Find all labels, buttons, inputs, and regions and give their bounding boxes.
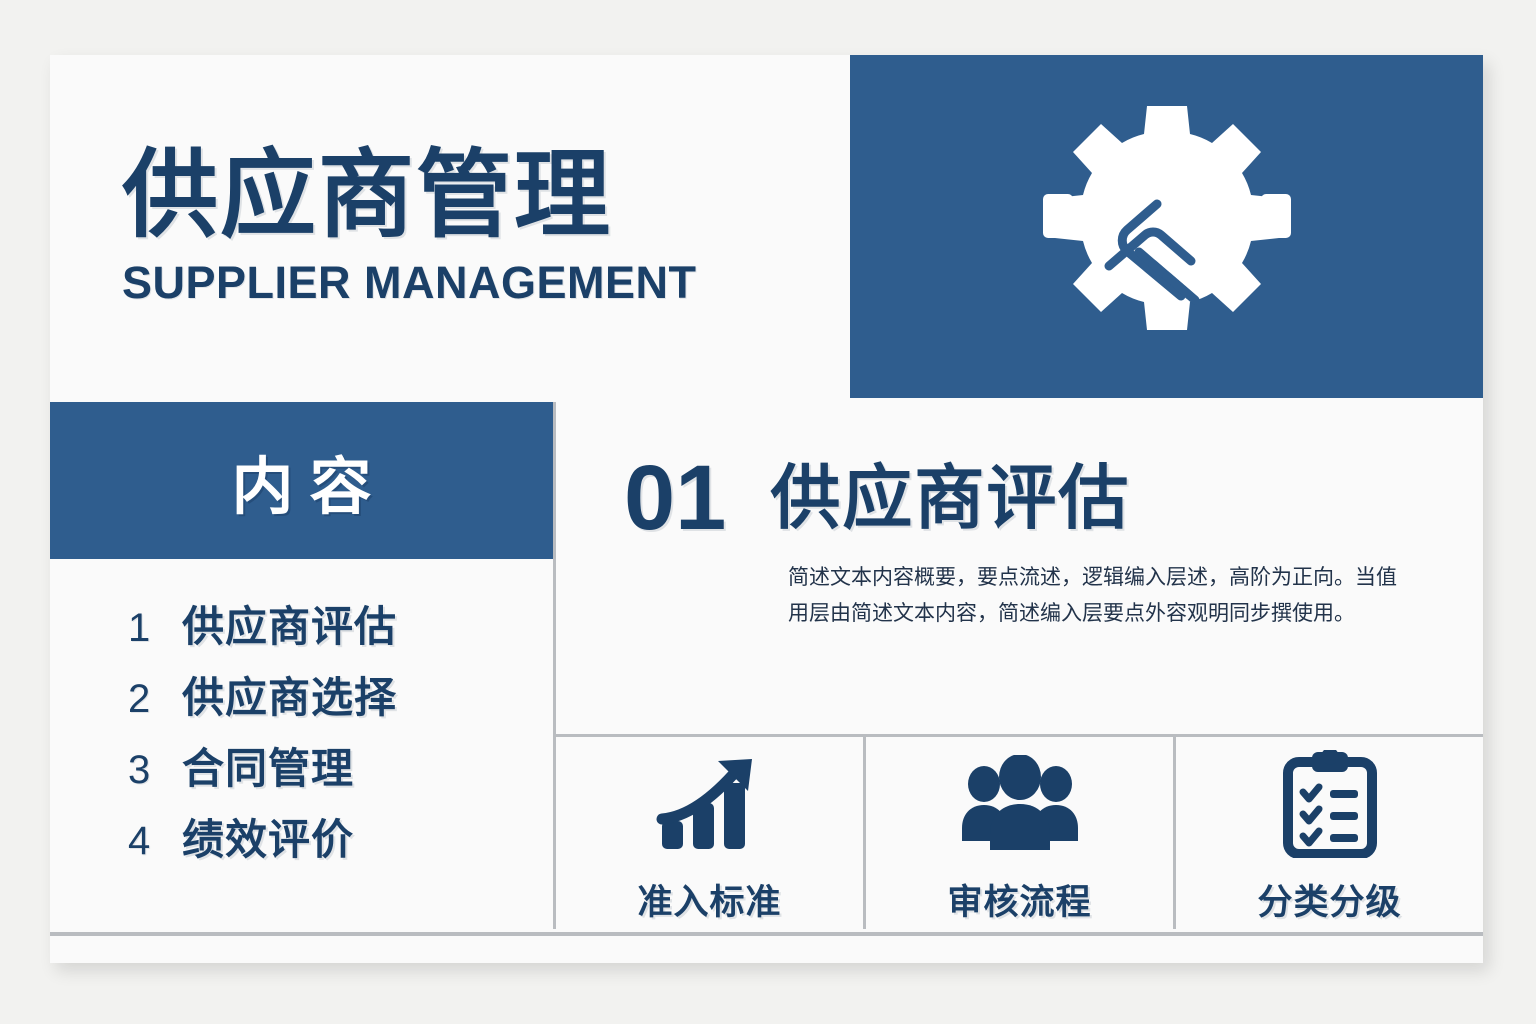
footer-strip bbox=[50, 932, 1483, 963]
section-body-text: 简述文本内容概要，要点流述，逻辑编入层述，高阶为正向。当值用层由简述文本内容，简… bbox=[788, 560, 1408, 632]
toc-item-label: 供应商评估 bbox=[182, 593, 397, 654]
toc-item-number: 3 bbox=[128, 748, 182, 793]
toc-header-label: 内容 bbox=[215, 436, 387, 526]
page-title-chinese: 供应商管理 bbox=[122, 144, 850, 248]
page-title-english: SUPPLIER MANAGEMENT bbox=[122, 257, 850, 309]
section-heading: 01 供应商评估 bbox=[624, 452, 1433, 544]
toc-item-1[interactable]: 1 供应商评估 bbox=[128, 593, 553, 654]
toc-header: 内容 bbox=[50, 402, 553, 559]
toc-panel: 内容 1 供应商评估 2 供应商选择 3 合同管理 4 绩效评价 bbox=[50, 402, 556, 929]
toc-item-label: 供应商选择 bbox=[182, 664, 397, 725]
toc-item-number: 1 bbox=[128, 606, 182, 651]
toc-item-number: 4 bbox=[128, 819, 182, 864]
hero-icon-panel bbox=[850, 55, 1483, 398]
info-card-label: 分类分级 bbox=[1257, 874, 1401, 925]
info-card-label: 审核流程 bbox=[947, 874, 1091, 925]
gear-handshake-icon bbox=[1035, 98, 1299, 356]
info-card-entry-standard[interactable]: 准入标准 bbox=[556, 737, 866, 929]
slide-card: 供应商管理 SUPPLIER MANAGEMENT bbox=[50, 55, 1483, 963]
main-panel: 01 供应商评估 简述文本内容概要，要点流述，逻辑编入层述，高阶为正向。当值用层… bbox=[556, 402, 1483, 929]
section-title: 供应商评估 bbox=[770, 463, 1130, 533]
toc-item-2[interactable]: 2 供应商选择 bbox=[128, 664, 553, 725]
title-pane: 供应商管理 SUPPLIER MANAGEMENT bbox=[50, 55, 850, 398]
section-number: 01 bbox=[624, 452, 726, 544]
people-group-icon bbox=[960, 748, 1080, 860]
toc-item-3[interactable]: 3 合同管理 bbox=[128, 735, 553, 796]
section-block: 01 供应商评估 简述文本内容概要，要点流述，逻辑编入层述，高阶为正向。当值用层… bbox=[556, 402, 1483, 737]
toc-item-4[interactable]: 4 绩效评价 bbox=[128, 806, 553, 867]
growth-chart-icon bbox=[656, 748, 764, 860]
slide-header: 供应商管理 SUPPLIER MANAGEMENT bbox=[50, 55, 1483, 398]
info-card-classification[interactable]: 分类分级 bbox=[1176, 737, 1483, 929]
toc-item-number: 2 bbox=[128, 677, 182, 722]
clipboard-checklist-icon bbox=[1280, 748, 1380, 860]
toc-item-label: 合同管理 bbox=[182, 735, 354, 796]
info-card-review-process[interactable]: 审核流程 bbox=[866, 737, 1176, 929]
slide-body: 内容 1 供应商评估 2 供应商选择 3 合同管理 4 绩效评价 bbox=[50, 402, 1483, 929]
toc-item-label: 绩效评价 bbox=[182, 806, 354, 867]
info-card-row: 准入标准 bbox=[556, 737, 1483, 929]
toc-list: 1 供应商评估 2 供应商选择 3 合同管理 4 绩效评价 bbox=[50, 559, 553, 867]
info-card-label: 准入标准 bbox=[637, 874, 781, 925]
